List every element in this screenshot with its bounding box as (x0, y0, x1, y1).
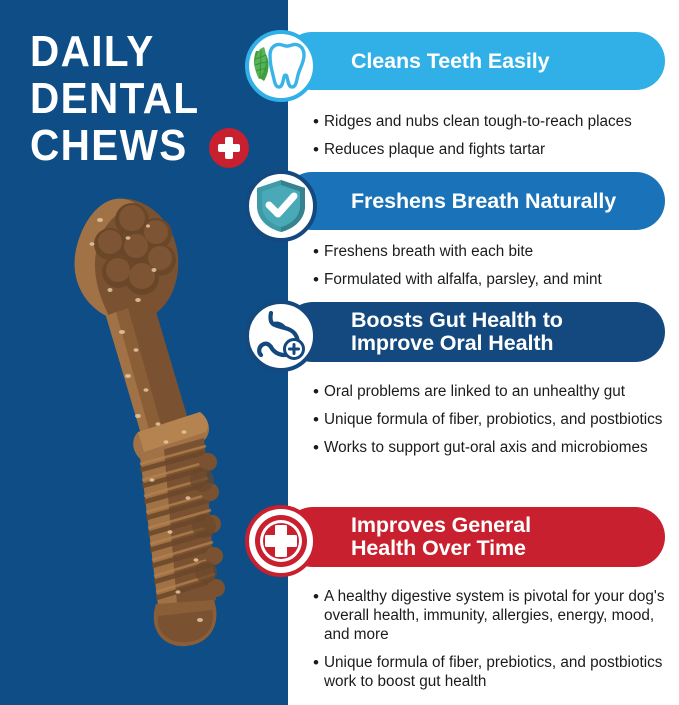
list-item: • Works to support gut-oral axis and mic… (313, 438, 673, 457)
benefit-header-pill-4: Improves General Health Over Time (283, 507, 665, 567)
bullet-dot: • (313, 242, 324, 261)
stomach-plus-icon (245, 300, 317, 372)
list-item: • Ridges and nubs clean tough-to-reach p… (313, 112, 673, 131)
bullet-text: Unique formula of fiber, probiotics, and… (324, 410, 673, 429)
list-item: • Freshens breath with each bite (313, 242, 673, 261)
benefit-title-3-line-1: Boosts Gut Health to (351, 309, 563, 332)
list-item: • A healthy digestive system is pivotal … (313, 587, 673, 644)
benefit-title-2: Freshens Breath Naturally (351, 190, 616, 213)
bullet-dot: • (313, 587, 324, 606)
bullet-text: Oral problems are linked to an unhealthy… (324, 382, 673, 401)
title-line-3: CHEWS (30, 122, 188, 169)
benefit-bullets-3: • Oral problems are linked to an unhealt… (313, 382, 673, 466)
page-title: DAILY DENTAL CHEWS (30, 28, 270, 169)
list-item: • Unique formula of fiber, probiotics, a… (313, 410, 673, 429)
benefit-header-pill-2: Freshens Breath Naturally (283, 172, 665, 230)
benefits-list: Cleans Teeth Easily (245, 0, 679, 705)
title-line-2: DENTAL (30, 75, 251, 122)
bullet-dot: • (313, 270, 324, 289)
list-item: • Formulated with alfalfa, parsley, and … (313, 270, 673, 289)
medical-cross-icon (209, 128, 249, 168)
benefit-title-4-line-2: Health Over Time (351, 537, 531, 560)
bullet-text: Unique formula of fiber, prebiotics, and… (324, 653, 673, 691)
infographic-page: DAILY DENTAL CHEWS (0, 0, 679, 705)
list-item: • Reduces plaque and fights tartar (313, 140, 673, 159)
bullet-dot: • (313, 382, 324, 401)
benefit-bullets-1: • Ridges and nubs clean tough-to-reach p… (313, 112, 673, 168)
benefit-title-3-line-2: Improve Oral Health (351, 332, 563, 355)
bullet-text: Ridges and nubs clean tough-to-reach pla… (324, 112, 673, 131)
bullet-text: Reduces plaque and fights tartar (324, 140, 673, 159)
benefit-header-pill-1: Cleans Teeth Easily (283, 32, 665, 90)
bullet-dot: • (313, 112, 324, 131)
bullet-text: Freshens breath with each bite (324, 242, 673, 261)
benefit-bullets-4: • A healthy digestive system is pivotal … (313, 587, 673, 700)
list-item: • Unique formula of fiber, prebiotics, a… (313, 653, 673, 691)
bullet-text: Formulated with alfalfa, parsley, and mi… (324, 270, 673, 289)
dog-dental-chew-illustration (40, 180, 260, 660)
benefit-title-1: Cleans Teeth Easily (351, 50, 549, 73)
bullet-dot: • (313, 410, 324, 429)
bullet-dot: • (313, 653, 324, 672)
shield-checkmark-icon (245, 170, 317, 242)
bullet-dot: • (313, 438, 324, 457)
benefit-title-4-line-1: Improves General (351, 514, 531, 537)
bullet-dot: • (313, 140, 324, 159)
medical-cross-circle-icon (245, 505, 317, 577)
benefit-bullets-2: • Freshens breath with each bite • Formu… (313, 242, 673, 298)
title-line-1: DAILY (30, 28, 251, 75)
tooth-with-mint-leaf-icon (245, 30, 317, 102)
bullet-text: Works to support gut-oral axis and micro… (324, 438, 673, 457)
bullet-text: A healthy digestive system is pivotal fo… (324, 587, 673, 644)
benefit-header-pill-3: Boosts Gut Health to Improve Oral Health (283, 302, 665, 362)
title-line-3-row: CHEWS (30, 122, 270, 169)
list-item: • Oral problems are linked to an unhealt… (313, 382, 673, 401)
